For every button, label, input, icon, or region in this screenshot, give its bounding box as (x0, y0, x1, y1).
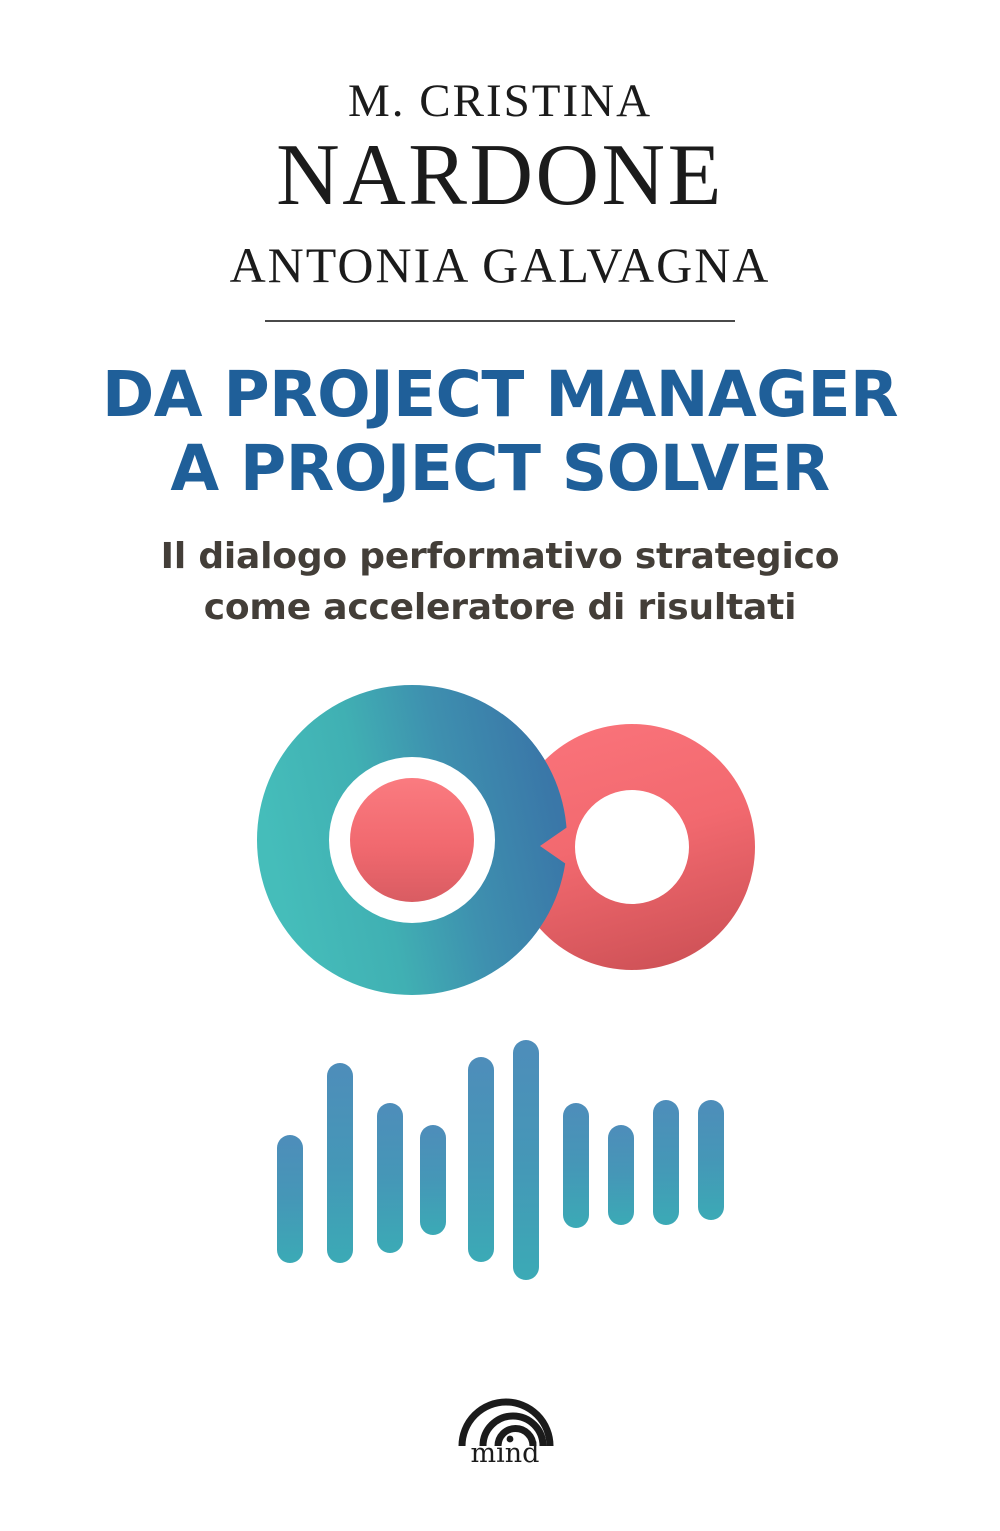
emblem-right-ring (509, 724, 755, 970)
page-title: DA PROJECT MANAGER A PROJECT SOLVER (0, 358, 1000, 507)
waveform-bar (513, 1040, 539, 1280)
author-primary-first-name: M. CRISTINA (0, 78, 1000, 125)
audio-waveform-icon (255, 1035, 745, 1300)
waveform-bar (608, 1125, 634, 1225)
title-line-1: DA PROJECT MANAGER (0, 358, 1000, 432)
emblem-center-dot (350, 778, 474, 902)
publisher-logo: mind (440, 1362, 570, 1482)
audio-waveform (255, 1035, 745, 1300)
subtitle-line-1: Il dialogo performativo strategico (0, 531, 1000, 582)
page-subtitle: Il dialogo performativo strategico come … (0, 531, 1000, 633)
author-primary-last-name: NARDONE (0, 128, 1000, 223)
horizontal-divider (265, 320, 735, 322)
waveform-bar (653, 1100, 679, 1225)
mind-publisher-icon: mind (440, 1362, 570, 1482)
author-block: M. CRISTINA NARDONE ANTONIA GALVAGNA (0, 78, 1000, 290)
waveform-bar (468, 1057, 494, 1262)
waveform-bar (563, 1103, 589, 1228)
author-secondary-name: ANTONIA GALVAGNA (0, 240, 1000, 290)
publisher-wordmark: mind (471, 1438, 540, 1469)
waveform-bar (698, 1100, 724, 1220)
infinity-loop-emblem (240, 660, 770, 1020)
infinity-loop-icon (240, 660, 770, 1020)
waveform-bar (327, 1063, 353, 1263)
waveform-bar (377, 1103, 403, 1253)
book-cover: M. CRISTINA NARDONE ANTONIA GALVAGNA DA … (0, 0, 1000, 1531)
waveform-bar (277, 1135, 303, 1263)
subtitle-line-2: come acceleratore di risultati (0, 582, 1000, 633)
title-line-2: A PROJECT SOLVER (0, 432, 1000, 506)
waveform-bar (420, 1125, 446, 1235)
